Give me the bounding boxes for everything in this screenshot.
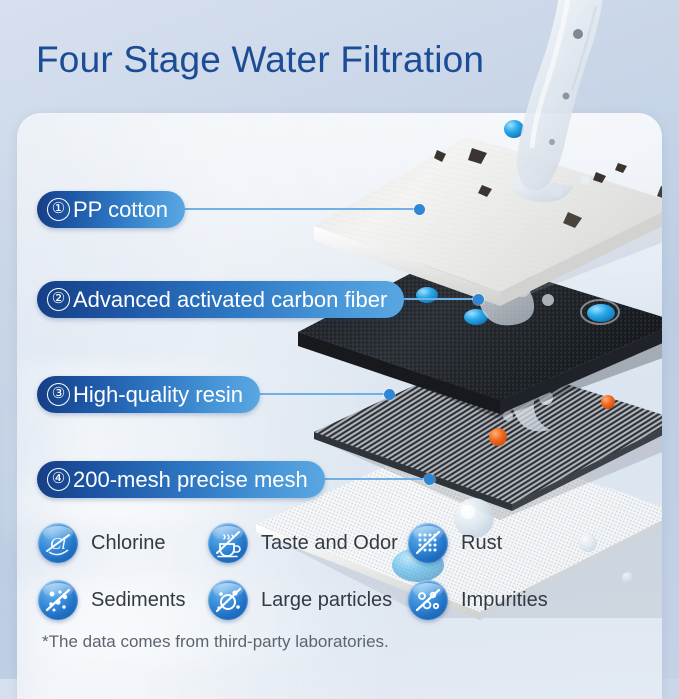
stage-label-1: PP cotton bbox=[73, 191, 168, 228]
stage-row-3[interactable]: ③ High-quality resin bbox=[37, 375, 395, 413]
stage-number-2: ② bbox=[47, 288, 70, 311]
leader-dot-3 bbox=[384, 389, 395, 400]
leader-line-3 bbox=[260, 393, 385, 395]
leader-dot-4 bbox=[424, 474, 435, 485]
feature-list: Cl Chlorine Taste and Odor bbox=[38, 517, 638, 626]
stage-number-1: ① bbox=[47, 198, 70, 221]
large-particles-blocked-icon bbox=[208, 580, 248, 620]
leader-line-2 bbox=[404, 298, 474, 300]
feature-label-rust: Rust bbox=[461, 532, 502, 555]
leader-dot-2 bbox=[473, 294, 484, 305]
sediments-blocked-icon bbox=[38, 580, 78, 620]
feature-rust[interactable]: Rust bbox=[408, 523, 548, 563]
feature-row-2: Sediments Large particles bbox=[38, 574, 638, 626]
feature-label-impurities: Impurities bbox=[461, 589, 548, 612]
feature-large-particles[interactable]: Large particles bbox=[208, 580, 408, 620]
stage-row-1[interactable]: ① PP cotton bbox=[37, 190, 425, 228]
chlorine-blocked-icon: Cl bbox=[38, 523, 78, 563]
taste-odor-blocked-icon bbox=[208, 523, 248, 563]
feature-impurities[interactable]: Impurities bbox=[408, 580, 568, 620]
feature-row-1: Cl Chlorine Taste and Odor bbox=[38, 517, 638, 569]
stage-label-2: Advanced activated carbon fiber bbox=[73, 281, 387, 318]
stage-row-4[interactable]: ④ 200-mesh precise mesh bbox=[37, 460, 435, 498]
stage-label-4: 200-mesh precise mesh bbox=[73, 461, 308, 498]
stage-row-2[interactable]: ② Advanced activated carbon fiber bbox=[37, 280, 484, 318]
feature-label-taste: Taste and Odor bbox=[261, 532, 398, 555]
feature-label-sediments: Sediments bbox=[91, 589, 186, 612]
footnote: *The data comes from third-party laborat… bbox=[42, 632, 389, 652]
feature-label-largeparticles: Large particles bbox=[261, 589, 392, 612]
leader-dot-1 bbox=[414, 204, 425, 215]
stage-badge-4[interactable]: ④ 200-mesh precise mesh bbox=[37, 461, 325, 498]
feature-label-chlorine: Chlorine bbox=[91, 532, 165, 555]
leader-line-1 bbox=[185, 208, 415, 210]
feature-taste-odor[interactable]: Taste and Odor bbox=[208, 523, 408, 563]
stage-label-3: High-quality resin bbox=[73, 376, 243, 413]
rust-blocked-icon bbox=[408, 523, 448, 563]
stage-number-4: ④ bbox=[47, 468, 70, 491]
stage-badge-2[interactable]: ② Advanced activated carbon fiber bbox=[37, 281, 404, 318]
stage-badge-1[interactable]: ① PP cotton bbox=[37, 191, 185, 228]
page-title: Four Stage Water Filtration bbox=[36, 38, 484, 82]
leader-line-4 bbox=[325, 478, 425, 480]
feature-sediments[interactable]: Sediments bbox=[38, 580, 208, 620]
impurities-blocked-icon bbox=[408, 580, 448, 620]
feature-chlorine[interactable]: Cl Chlorine bbox=[38, 523, 208, 563]
stage-number-3: ③ bbox=[47, 383, 70, 406]
stage-badge-3[interactable]: ③ High-quality resin bbox=[37, 376, 260, 413]
